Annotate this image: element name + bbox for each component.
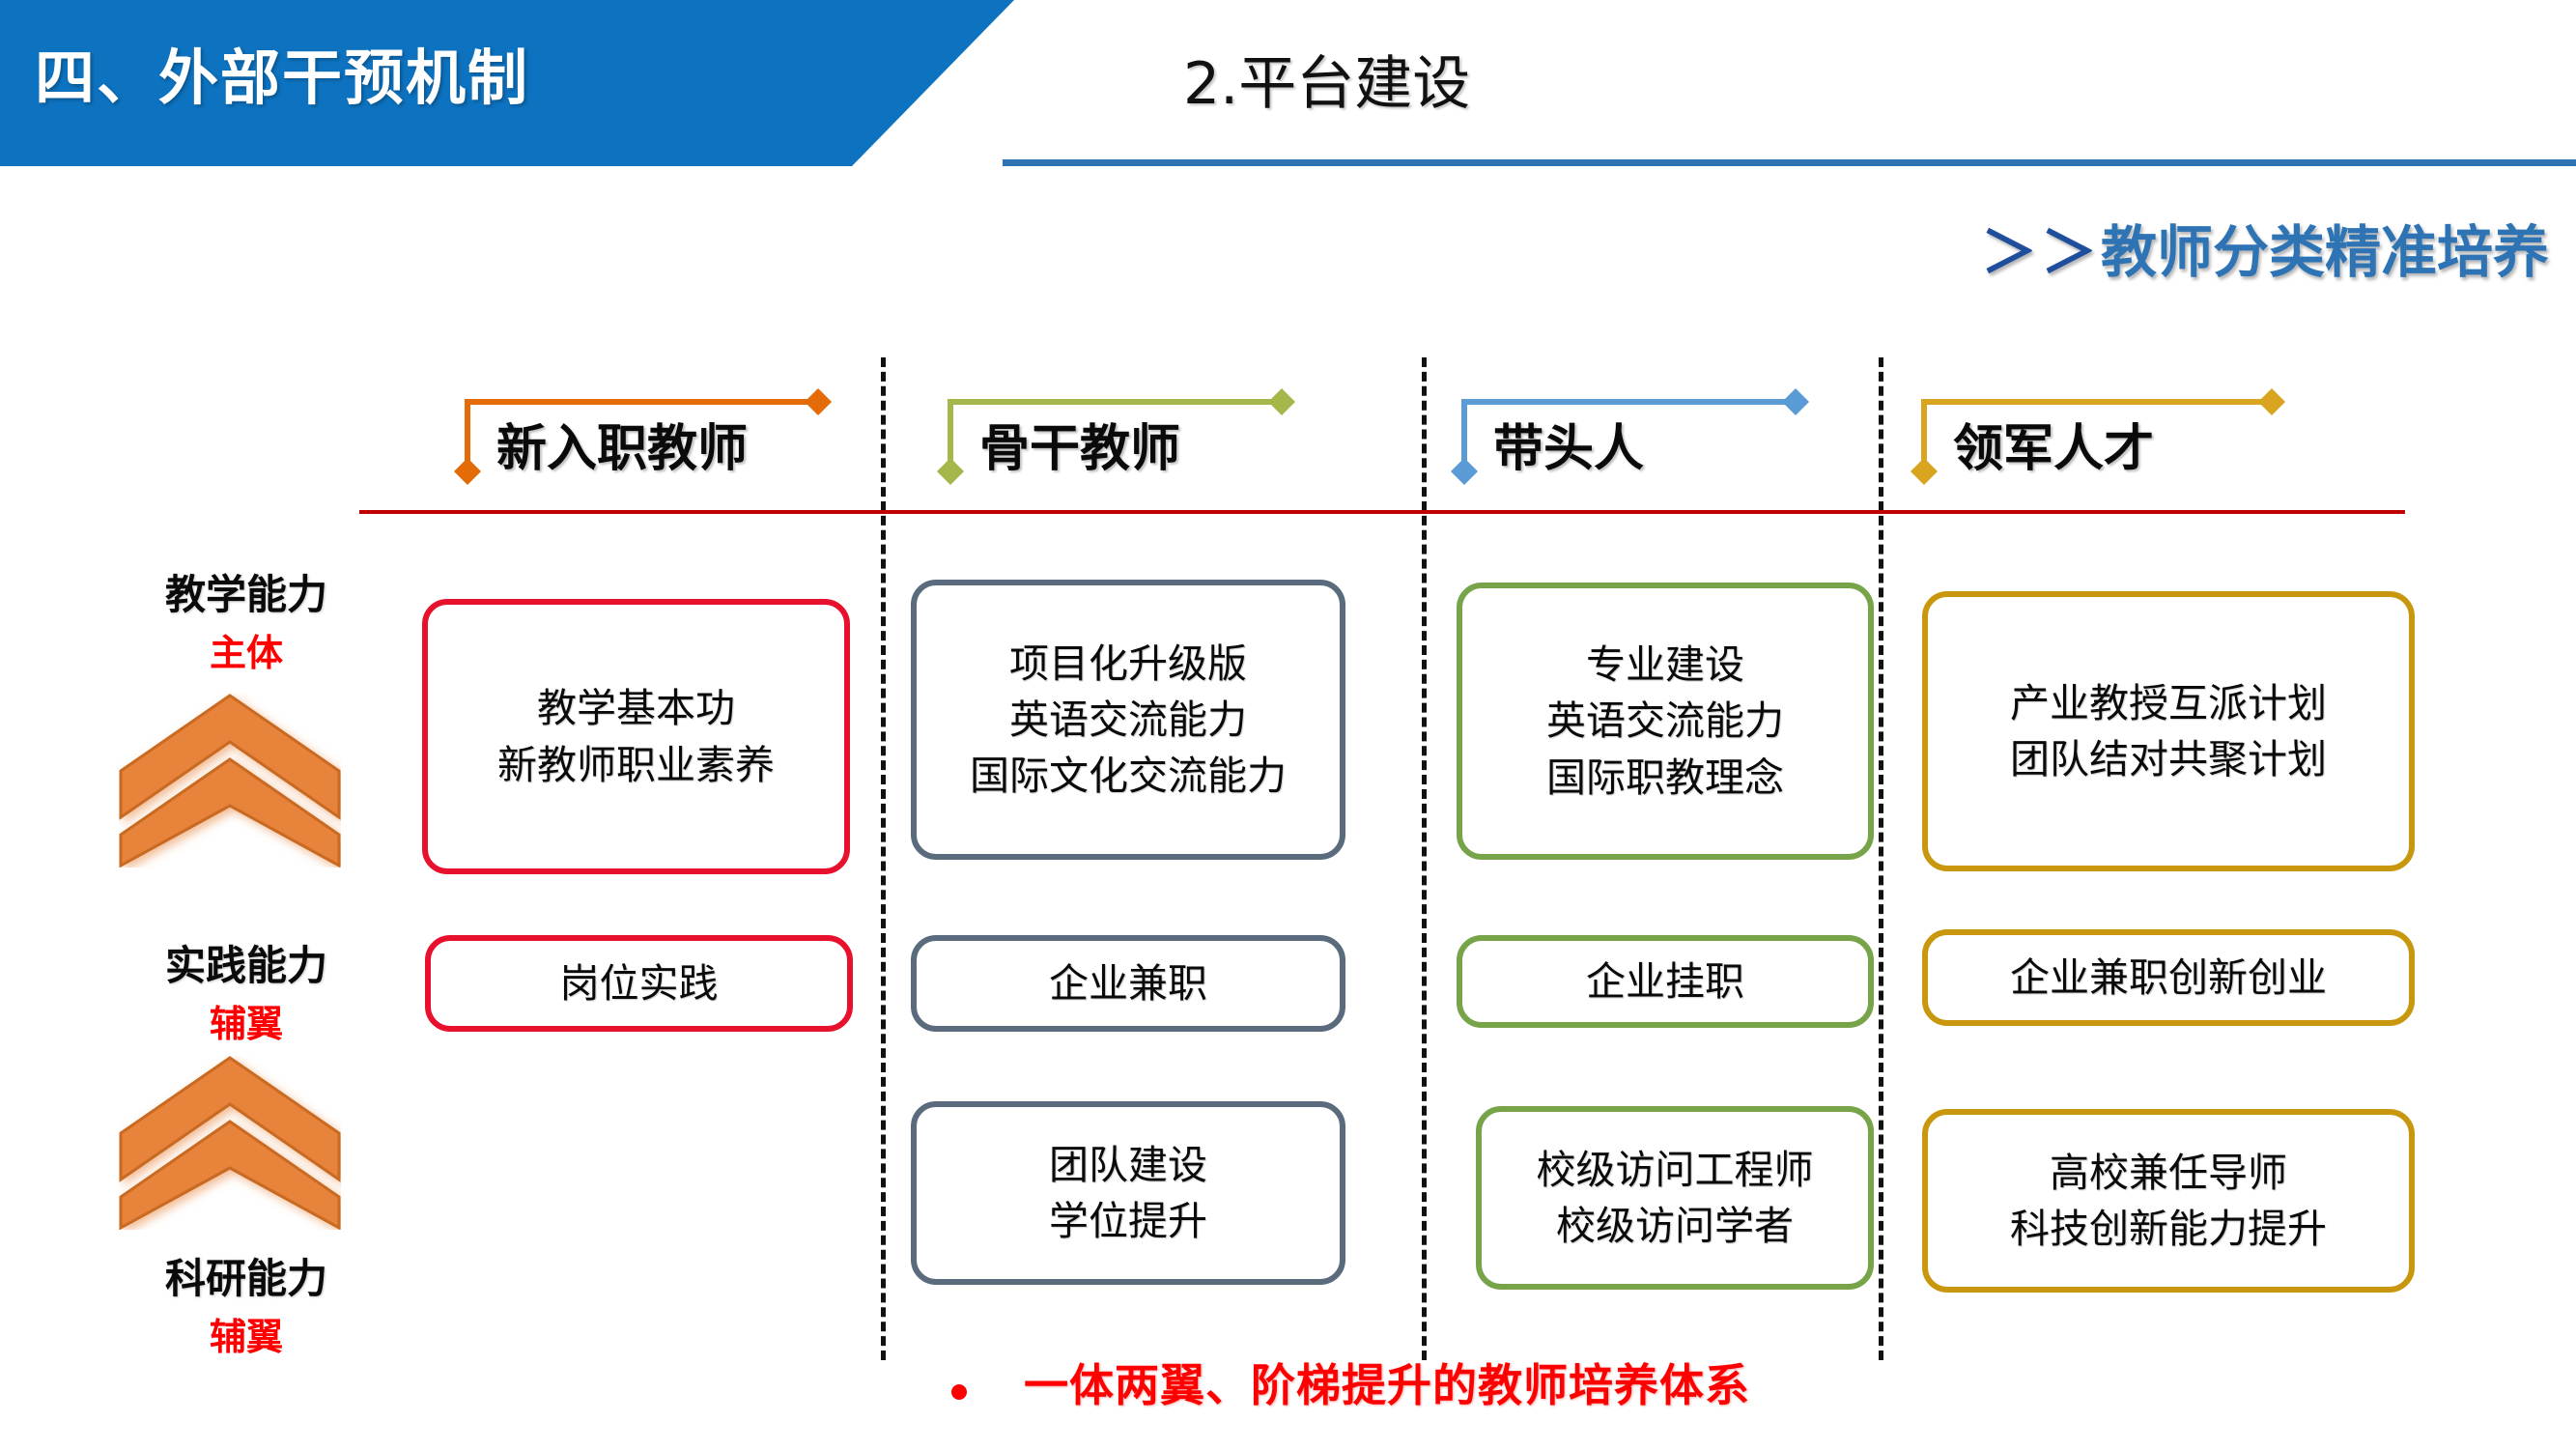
box-line: 团队结对共聚计划 bbox=[2010, 731, 2327, 787]
column-header-label: 骨干教师 bbox=[979, 408, 1180, 480]
column-divider-3 bbox=[1879, 357, 1883, 1360]
box-line: 专业建设 bbox=[1586, 637, 1744, 693]
box-line: 学位提升 bbox=[1049, 1193, 1207, 1249]
double-chevron-right-icon: ＞＞ bbox=[1981, 219, 2101, 285]
page-title: 2.平台建设 bbox=[1183, 37, 1470, 121]
row-label-sub: 辅翼 bbox=[101, 994, 391, 1047]
column-header-top-talent: 领军人才 bbox=[1903, 386, 2308, 502]
row-label-main: 科研能力 bbox=[101, 1246, 391, 1305]
box-line: 产业教授互派计划 bbox=[2010, 675, 2327, 731]
box-line: 国际文化交流能力 bbox=[970, 748, 1287, 804]
content-box-research-backbone[interactable]: 团队建设 学位提升 bbox=[911, 1101, 1345, 1285]
header-underline bbox=[1003, 159, 2576, 166]
box-line: 校级访问学者 bbox=[1556, 1198, 1794, 1254]
content-box-teaching-top-talent[interactable]: 产业教授互派计划 团队结对共聚计划 bbox=[1922, 591, 2415, 871]
content-box-practice-new-teacher[interactable]: 岗位实践 bbox=[425, 935, 853, 1032]
section-title: 四、外部干预机制 bbox=[35, 29, 529, 116]
content-box-practice-top-talent[interactable]: 企业兼职创新创业 bbox=[1922, 929, 2415, 1026]
row-label-sub: 主体 bbox=[101, 623, 391, 676]
box-line: 项目化升级版 bbox=[1009, 636, 1247, 692]
column-header-backbone: 骨干教师 bbox=[929, 386, 1316, 502]
box-line: 岗位实践 bbox=[560, 955, 719, 1011]
content-box-teaching-new-teacher[interactable]: 教学基本功 新教师职业素养 bbox=[422, 599, 850, 874]
header-rule bbox=[359, 510, 2405, 514]
chevron-up-double-icon-1 bbox=[119, 694, 341, 872]
row-label-main: 实践能力 bbox=[101, 933, 391, 992]
box-line: 英语交流能力 bbox=[1009, 692, 1247, 748]
column-header-label: 带头人 bbox=[1493, 408, 1644, 480]
box-line: 企业挂职 bbox=[1586, 953, 1744, 1009]
column-header-new-teacher: 新入职教师 bbox=[446, 386, 852, 502]
row-label-research: 科研能力 辅翼 bbox=[101, 1246, 391, 1360]
footer-caption: 一体两翼、阶梯提升的教师培养体系 bbox=[1024, 1350, 1750, 1414]
content-box-research-leader[interactable]: 校级访问工程师 校级访问学者 bbox=[1476, 1106, 1874, 1290]
box-line: 企业兼职创新创业 bbox=[2010, 950, 2327, 1006]
column-header-label: 新入职教师 bbox=[496, 408, 748, 480]
footer-bullet-icon bbox=[951, 1384, 967, 1400]
box-line: 团队建设 bbox=[1049, 1137, 1207, 1193]
subtitle: ＞＞教师分类精准培养 bbox=[1981, 207, 2549, 288]
row-label-main: 教学能力 bbox=[101, 562, 391, 621]
content-box-teaching-backbone[interactable]: 项目化升级版 英语交流能力 国际文化交流能力 bbox=[911, 580, 1345, 860]
box-line: 科技创新能力提升 bbox=[2010, 1201, 2327, 1257]
box-line: 教学基本功 bbox=[537, 680, 735, 736]
content-box-practice-backbone[interactable]: 企业兼职 bbox=[911, 935, 1345, 1032]
column-divider-2 bbox=[1422, 357, 1427, 1360]
box-line: 国际职教理念 bbox=[1546, 750, 1784, 806]
box-line: 校级访问工程师 bbox=[1537, 1142, 1814, 1198]
slide-header: 四、外部干预机制 2.平台建设 bbox=[0, 0, 2576, 166]
row-label-practice: 实践能力 辅翼 bbox=[101, 933, 391, 1047]
content-box-teaching-leader[interactable]: 专业建设 英语交流能力 国际职教理念 bbox=[1457, 583, 1874, 860]
subtitle-text: 教师分类精准培养 bbox=[2101, 219, 2549, 285]
content-box-research-top-talent[interactable]: 高校兼任导师 科技创新能力提升 bbox=[1922, 1109, 2415, 1293]
box-line: 企业兼职 bbox=[1049, 955, 1207, 1011]
box-line: 新教师职业素养 bbox=[497, 737, 775, 793]
box-line: 高校兼任导师 bbox=[2050, 1145, 2287, 1201]
column-divider-1 bbox=[881, 357, 886, 1360]
content-box-practice-leader[interactable]: 企业挂职 bbox=[1457, 935, 1874, 1028]
column-header-leader: 带头人 bbox=[1443, 386, 1829, 502]
box-line: 英语交流能力 bbox=[1546, 693, 1784, 749]
row-label-teaching: 教学能力 主体 bbox=[101, 562, 391, 676]
chevron-up-double-icon-2 bbox=[119, 1056, 341, 1235]
column-header-label: 领军人才 bbox=[1953, 408, 2154, 480]
row-label-sub: 辅翼 bbox=[101, 1307, 391, 1360]
